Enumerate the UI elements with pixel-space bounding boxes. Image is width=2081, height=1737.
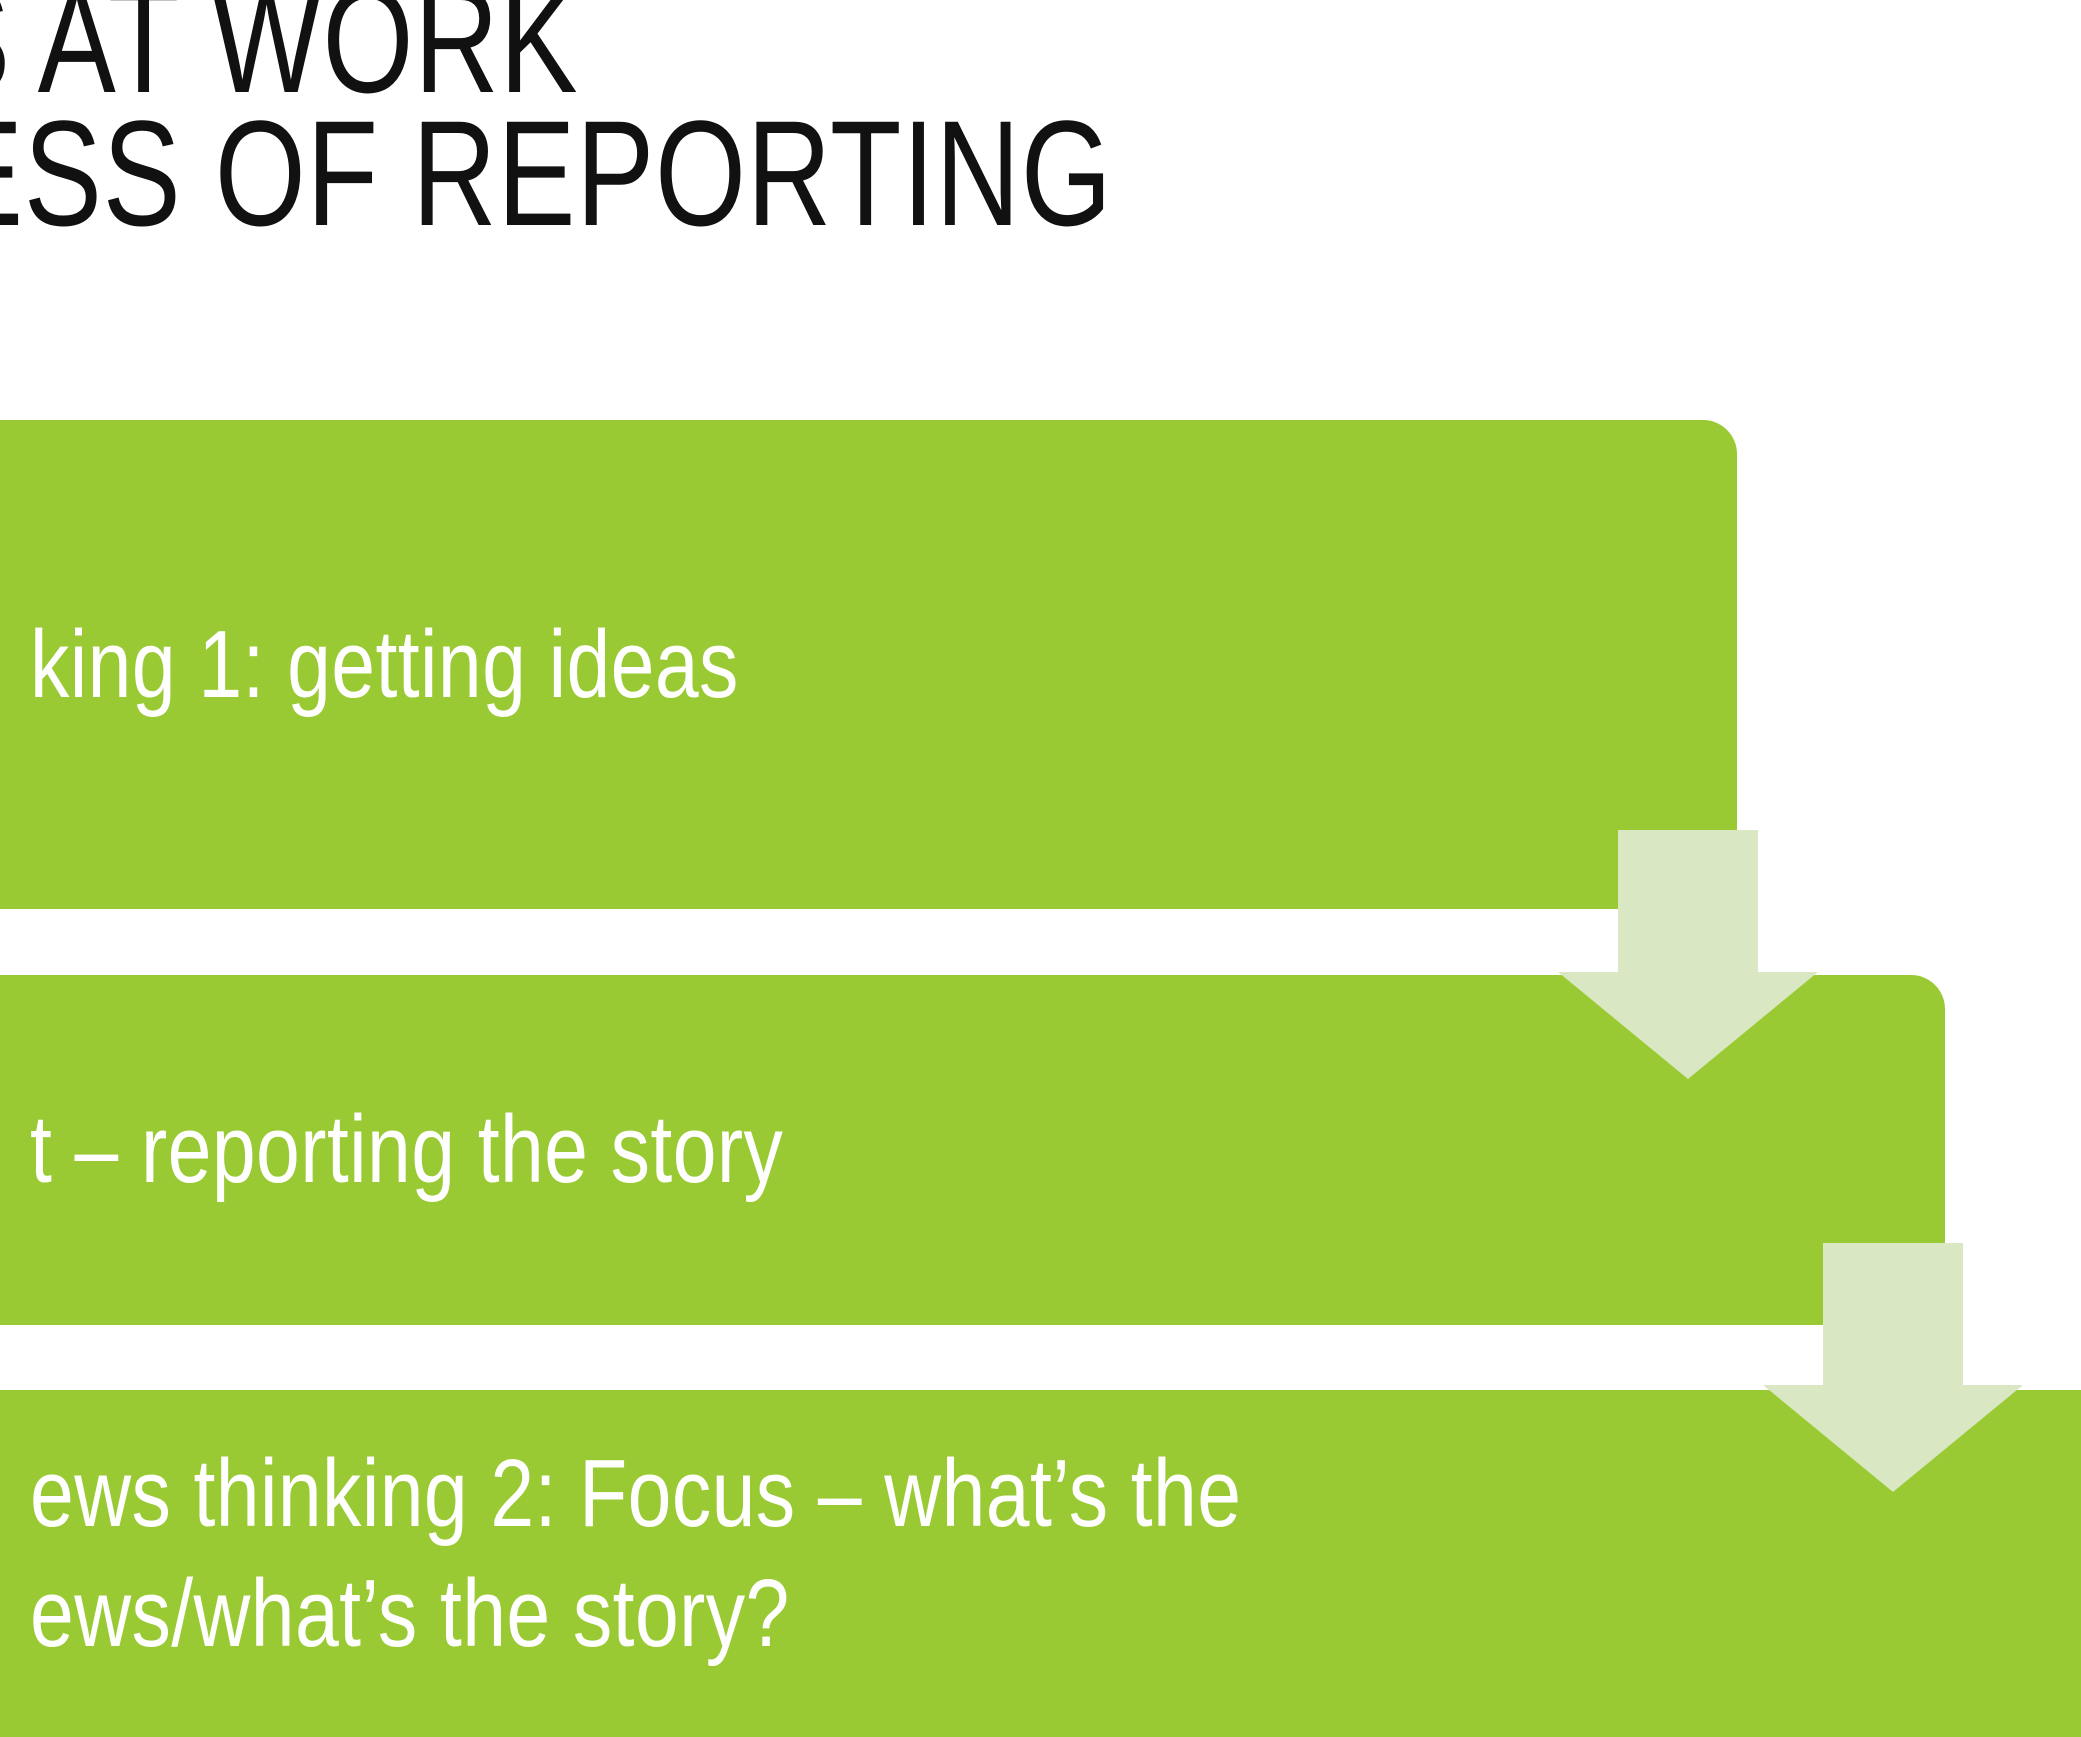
flow-step-1-box[interactable]: king 1: getting ideas — [0, 420, 1737, 909]
presentation-slide: ERS AT WORK OCESS OF REPORTING king 1: g… — [0, 0, 2081, 1737]
slide-title-line-2: OCESS OF REPORTING — [0, 107, 1640, 240]
flow-step-2-label: t – reporting the story — [30, 1091, 1600, 1209]
flow-step-3-box[interactable]: ews thinking 2: Focus – what’s the ews/w… — [0, 1390, 2081, 1737]
flow-step-3-label-line-1: ews thinking 2: Focus – what’s the — [30, 1434, 1883, 1554]
slide-title: ERS AT WORK OCESS OF REPORTING — [0, 0, 1640, 240]
flow-step-2-box[interactable]: t – reporting the story — [0, 975, 1945, 1325]
flow-step-3-label: ews thinking 2: Focus – what’s the ews/w… — [30, 1434, 1883, 1674]
flow-step-3-label-line-2: ews/what’s the story? — [30, 1554, 1883, 1674]
flow-step-1-label: king 1: getting ideas — [30, 606, 1430, 724]
